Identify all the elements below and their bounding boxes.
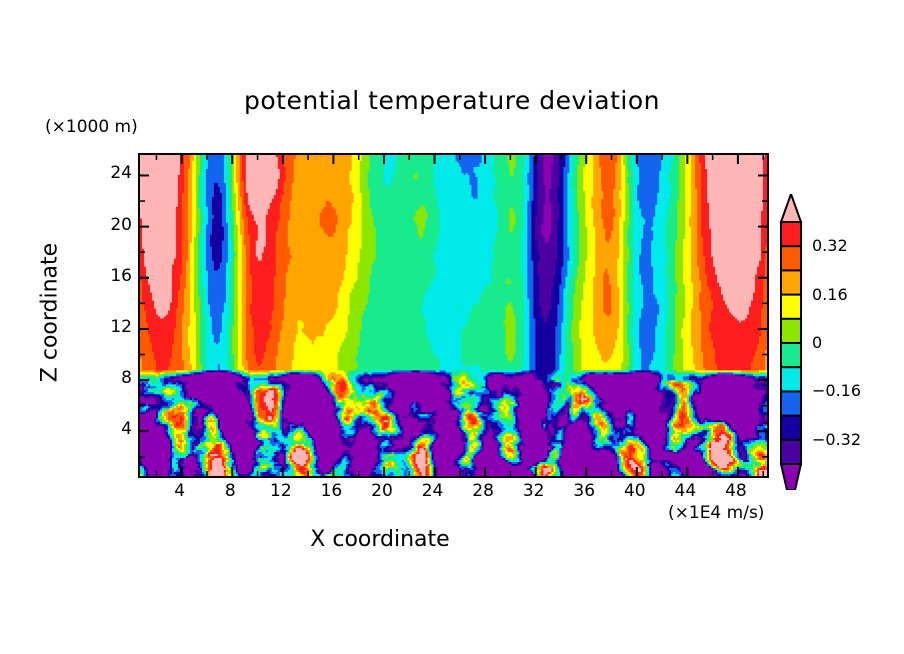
x-tick-label: 36 [564, 481, 604, 501]
contour-field [140, 155, 767, 476]
contour-plot-area: t=716400 s [138, 153, 769, 478]
y-tick-label: 16 [92, 266, 132, 286]
page-title: potential temperature deviation [0, 86, 904, 115]
y-axis-tick-labels: 2420161284 [88, 153, 132, 474]
x-tick-label: 16 [311, 481, 351, 501]
colorbar-tick-label: −0.32 [812, 430, 861, 449]
y-tick-label: 12 [92, 317, 132, 337]
x-axis-units-label: (×1E4 m/s) [668, 503, 764, 523]
x-tick-label: 48 [716, 481, 756, 501]
x-tick-label: 12 [261, 481, 301, 501]
x-tick-label: 24 [413, 481, 453, 501]
x-tick-label: 28 [463, 481, 503, 501]
colorbar-tick-label: 0 [812, 333, 822, 352]
y-tick-label: 24 [92, 163, 132, 183]
colorbar [778, 194, 804, 490]
colorbar-tick-label: 0.32 [812, 236, 848, 255]
colorbar-tick-label: −0.16 [812, 381, 861, 400]
y-tick-label: 20 [92, 215, 132, 235]
x-tick-label: 20 [362, 481, 402, 501]
x-axis-title: X coordinate [0, 527, 760, 552]
colorbar-tick-label: 0.16 [812, 285, 848, 304]
x-tick-label: 4 [160, 481, 200, 501]
y-axis-title: Z coordinate [38, 203, 63, 423]
x-tick-label: 8 [210, 481, 250, 501]
figure-canvas: potential temperature deviation (×1000 m… [0, 0, 904, 654]
y-axis-units-label: (×1000 m) [45, 117, 138, 137]
y-tick-label: 8 [92, 368, 132, 388]
x-tick-label: 44 [665, 481, 705, 501]
y-tick-label: 4 [92, 419, 132, 439]
x-tick-label: 40 [615, 481, 655, 501]
x-axis-tick-labels: 4812162024283236404448 [138, 481, 765, 505]
x-tick-label: 32 [514, 481, 554, 501]
colorbar-tick-labels: 0.320.160−0.16−0.32 [812, 194, 892, 490]
